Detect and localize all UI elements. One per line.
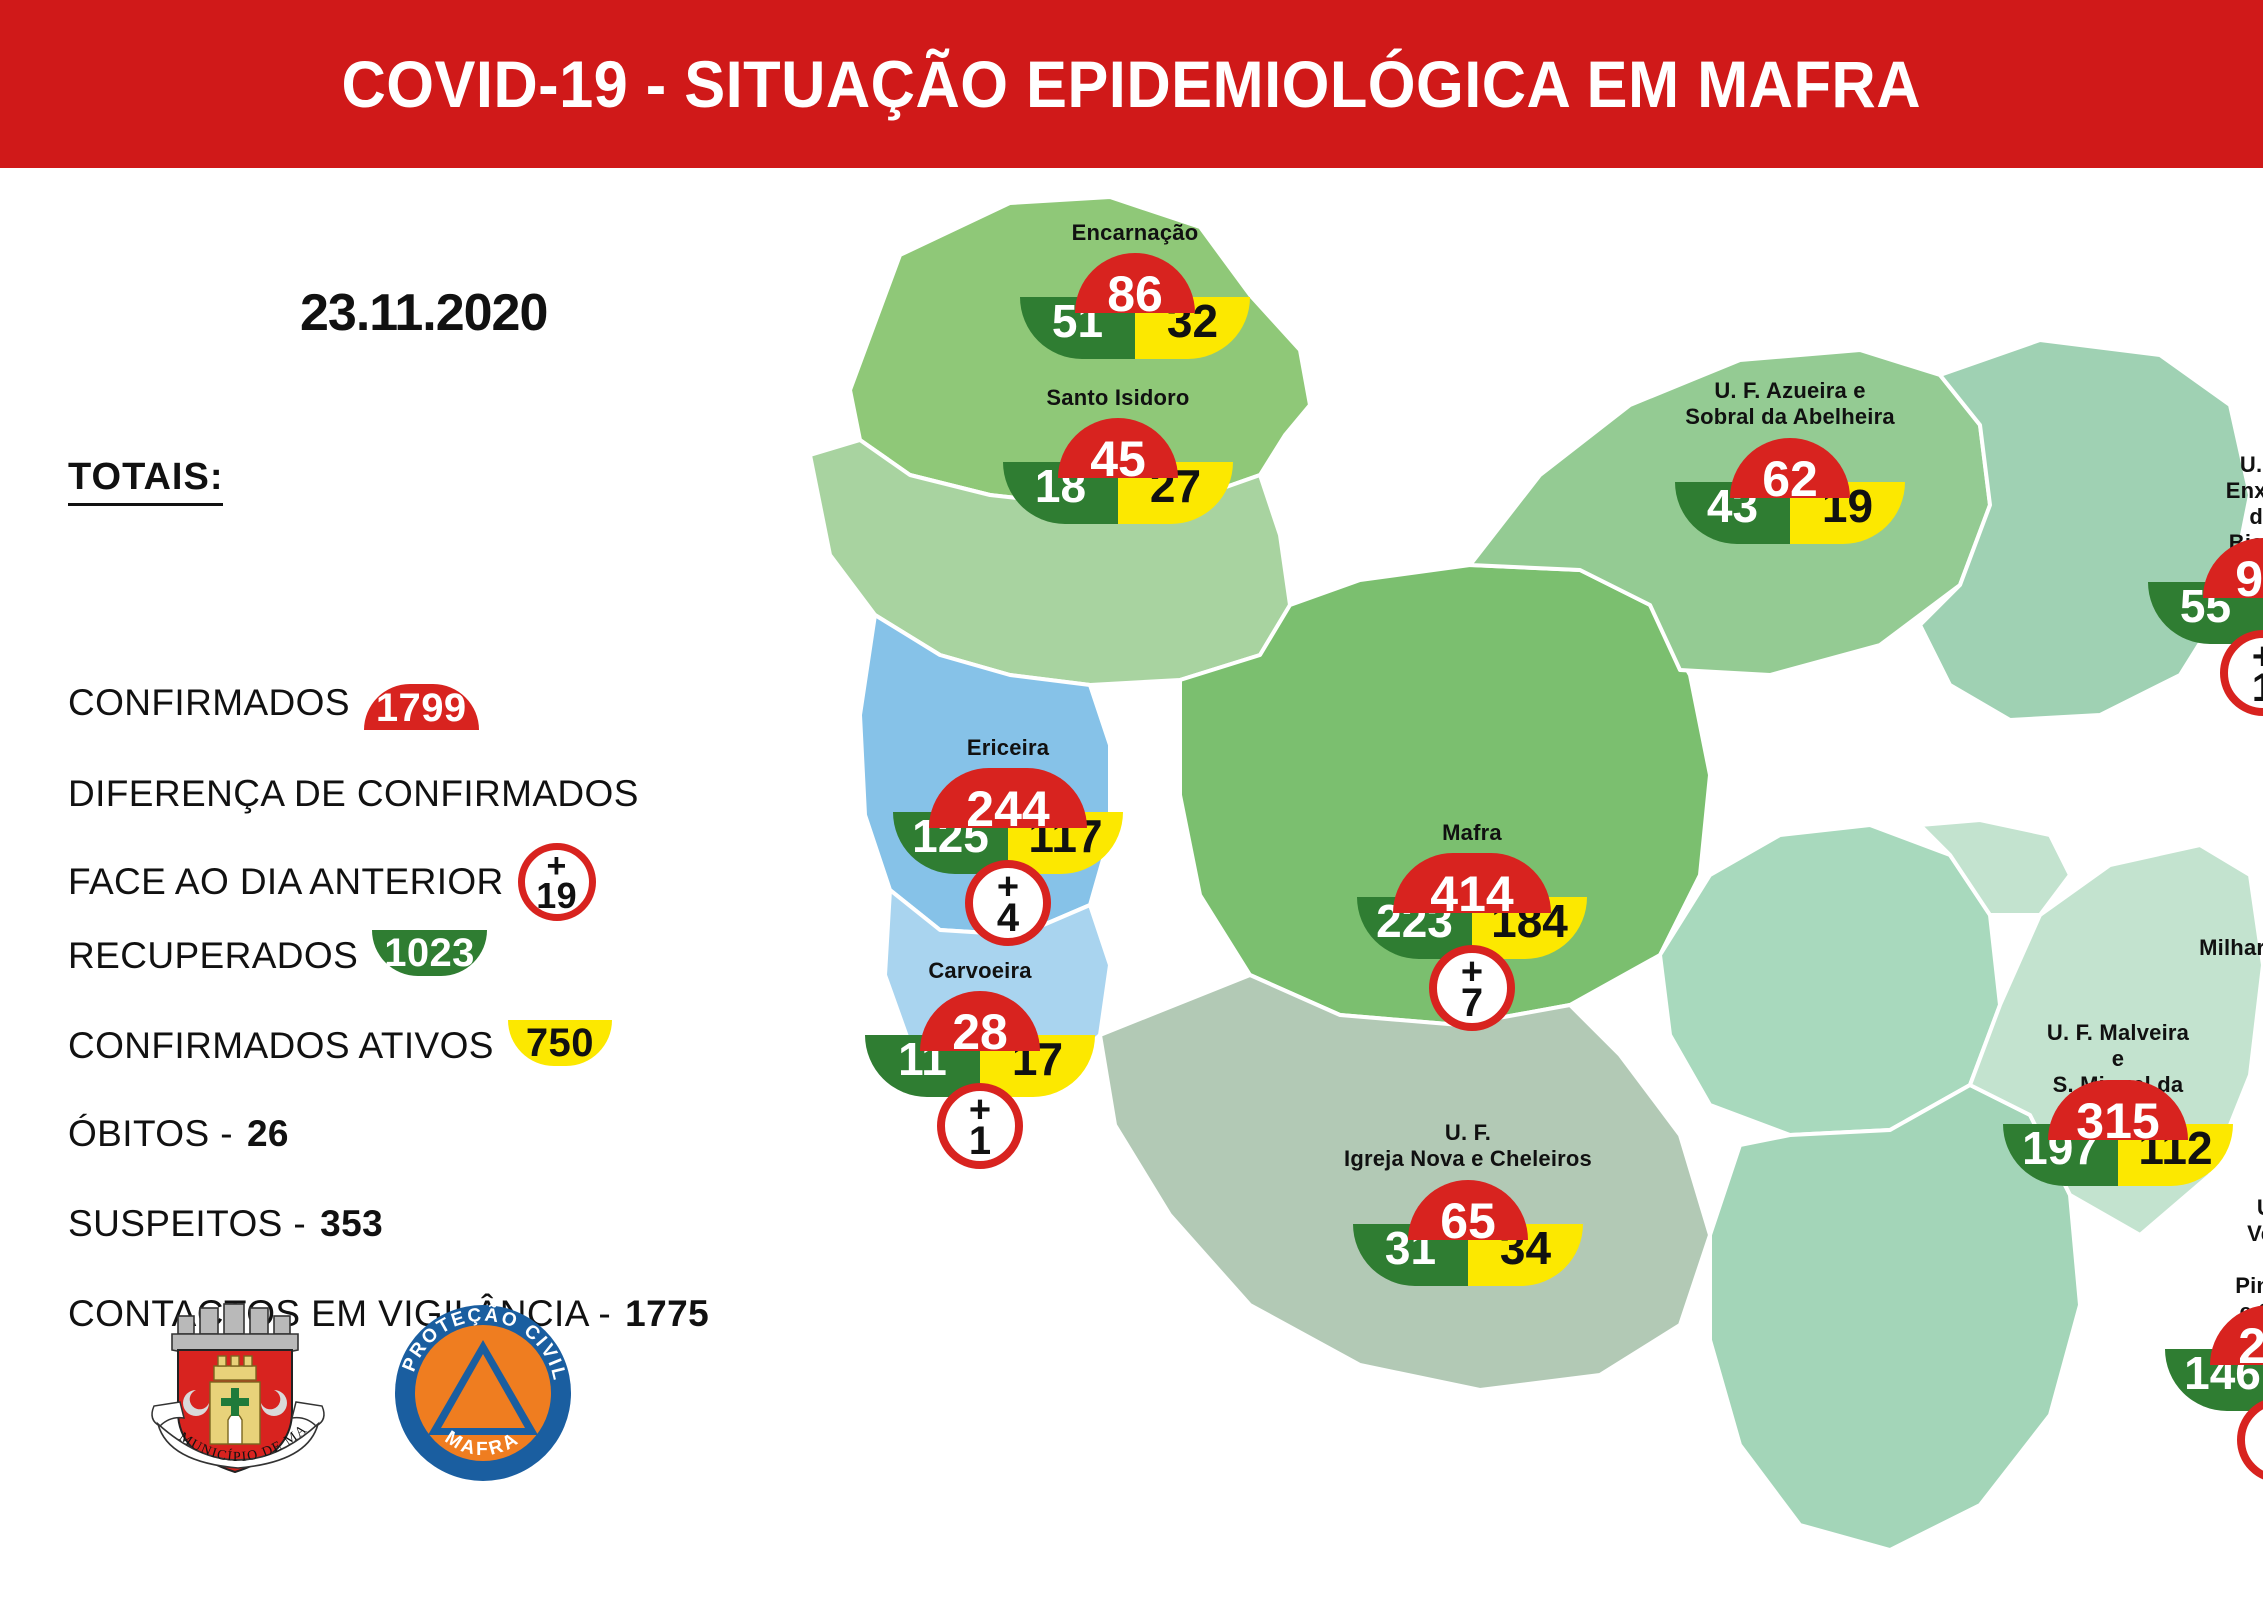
stat-recuperados: RECUPERADOS 1023 bbox=[68, 933, 487, 979]
page-title: COVID-19 - SITUAÇÃO EPIDEMIOLÓGICA EM MA… bbox=[342, 46, 1922, 122]
stat-label: FACE AO DIA ANTERIOR bbox=[68, 861, 504, 903]
stat-label: CONFIRMADOS bbox=[68, 682, 350, 724]
badge-enxara-gradil: 90 55 35 +1 bbox=[2148, 538, 2263, 716]
summary-panel: 23.11.2020 TOTAIS: CONFIRMADOS 1799 DIFE… bbox=[0, 168, 830, 1600]
map-label-santo-isidoro: Santo Isidoro bbox=[1046, 385, 1189, 411]
confirmed-dome: 315 bbox=[2048, 1080, 2188, 1140]
badge-azueira-sobral: 62 43 19 bbox=[1675, 438, 1905, 544]
stat-label: SUSPEITOS - bbox=[68, 1203, 306, 1245]
map-label-encarnacao: Encarnação bbox=[1072, 220, 1199, 246]
logo-row: MUNICÍPIO DE MAFRA PROTEÇÃO CIVIL MAFRA bbox=[140, 1298, 574, 1488]
page-header: COVID-19 - SITUAÇÃO EPIDEMIOLÓGICA EM MA… bbox=[0, 0, 2263, 168]
stat-confirmados-ativos: CONFIRMADOS ATIVOS 750 bbox=[68, 1023, 612, 1069]
confirmados-badge: 1799 bbox=[364, 684, 479, 730]
stat-confirmados: CONFIRMADOS 1799 bbox=[68, 680, 479, 726]
badge-encarnacao: 86 51 32 bbox=[1020, 253, 1250, 359]
protecao-civil-mafra-logo-icon: PROTEÇÃO CIVIL MAFRA bbox=[392, 1302, 574, 1484]
delta-badge: +7 bbox=[1429, 945, 1515, 1031]
map-label-azueira-sobral: U. F. Azueira e Sobral da Abelheira bbox=[1685, 378, 1895, 430]
badge-carvoeira: 28 11 17 +1 bbox=[865, 991, 1095, 1169]
stat-label: DIFERENÇA DE CONFIRMADOS bbox=[68, 773, 639, 815]
map-label-carvoeira: Carvoeira bbox=[928, 958, 1031, 984]
map-label-mafra: Mafra bbox=[1442, 820, 1502, 846]
delta-badge: +1 bbox=[937, 1083, 1023, 1169]
stat-obitos: ÓBITOS - 26 bbox=[68, 1113, 289, 1155]
badge-igreja-nova-cheleiros: 65 31 34 bbox=[1353, 1180, 1583, 1286]
recuperados-badge: 1023 bbox=[372, 930, 487, 976]
badge-ericeira: 244 125 117 +4 bbox=[893, 768, 1123, 946]
confirmed-dome: 65 bbox=[1408, 1180, 1528, 1240]
badge-mafra: 414 223 184 +7 bbox=[1357, 853, 1587, 1031]
delta-value: 4 bbox=[997, 902, 1019, 934]
contactos-value: 1775 bbox=[625, 1293, 709, 1335]
badge-venda-pinheiro: 262 146 114 +4 bbox=[2165, 1305, 2263, 1483]
delta-value: 7 bbox=[1461, 987, 1483, 1019]
delta-badge: +4 bbox=[965, 860, 1051, 946]
confirmed-dome: 244 bbox=[929, 768, 1087, 828]
region-malveira-smiguel bbox=[1660, 825, 2000, 1135]
suspeitos-value: 353 bbox=[320, 1203, 383, 1245]
diferenca-value: 19 bbox=[536, 881, 577, 911]
obitos-value: 26 bbox=[247, 1113, 289, 1155]
stat-diferenca-line2: FACE AO DIA ANTERIOR + 19 bbox=[68, 843, 596, 921]
stat-suspeitos: SUSPEITOS - 353 bbox=[68, 1203, 383, 1245]
confirmed-dome: 262 bbox=[2210, 1305, 2263, 1365]
confirmed-dome: 86 bbox=[1075, 253, 1195, 313]
confirmed-dome: 28 bbox=[920, 991, 1040, 1051]
confirmed-dome: 90 bbox=[2203, 538, 2263, 598]
map-label-igreja-nova-cheleiros: U. F. Igreja Nova e Cheleiros bbox=[1344, 1120, 1592, 1172]
delta-value: 1 bbox=[2252, 672, 2263, 704]
infographic-page: COVID-19 - SITUAÇÃO EPIDEMIOLÓGICA EM MA… bbox=[0, 0, 2263, 1600]
confirmed-dome: 414 bbox=[1393, 853, 1551, 913]
confirmed-dome: 62 bbox=[1730, 438, 1850, 498]
delta-value: 1 bbox=[969, 1125, 991, 1157]
badge-malveira-smiguel: 315 197 112 bbox=[2003, 1080, 2233, 1186]
totals-heading: TOTAIS: bbox=[68, 456, 223, 506]
stat-diferenca-line1: DIFERENÇA DE CONFIRMADOS bbox=[68, 773, 639, 815]
stat-label: RECUPERADOS bbox=[68, 935, 358, 977]
map-label-ericeira: Ericeira bbox=[967, 735, 1049, 761]
municipio-mafra-coat-of-arms-icon: MUNICÍPIO DE MAFRA bbox=[140, 1298, 336, 1488]
stat-label: CONFIRMADOS ATIVOS bbox=[68, 1025, 494, 1067]
report-date: 23.11.2020 bbox=[300, 283, 547, 343]
badge-santo-isidoro: 45 18 27 bbox=[1003, 418, 1233, 524]
mafra-municipality-map: Encarnação Santo Isidoro U. F. Azueira e… bbox=[780, 175, 2263, 1600]
map-label-milharado-small: Milharado bbox=[2199, 935, 2263, 961]
stat-label: ÓBITOS - bbox=[68, 1113, 233, 1155]
ativos-badge: 750 bbox=[508, 1020, 612, 1066]
confirmed-dome: 45 bbox=[1058, 418, 1178, 478]
diferenca-badge: + 19 bbox=[518, 843, 596, 921]
